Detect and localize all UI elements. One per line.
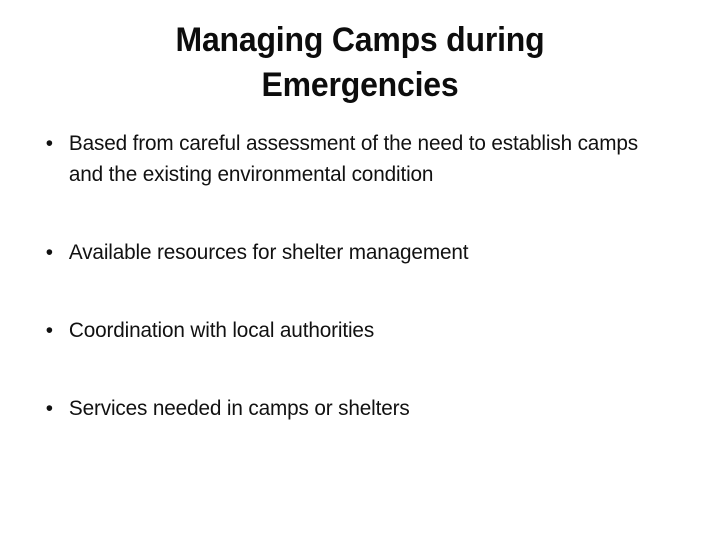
bullet-list: • Based from careful assessment of the n… [38,128,678,424]
list-item: • Coordination with local authorities [38,315,656,346]
presentation-slide: Managing Camps during Emergencies • Base… [0,0,720,540]
list-item-text: Coordination with local authorities [69,315,656,346]
bullet-point-icon: • [46,315,58,346]
bullet-point-icon: • [46,237,58,268]
list-item: • Available resources for shelter manage… [38,237,656,268]
bullet-point-icon: • [46,393,58,424]
list-item: • Based from careful assessment of the n… [38,128,656,190]
list-item-text: Based from careful assessment of the nee… [69,128,656,190]
page-title: Managing Camps during Emergencies [78,18,642,108]
bullet-point-icon: • [46,128,58,159]
list-item-text: Available resources for shelter manageme… [69,237,656,268]
list-item-text: Services needed in camps or shelters [69,393,656,424]
list-item: • Services needed in camps or shelters [38,393,656,424]
